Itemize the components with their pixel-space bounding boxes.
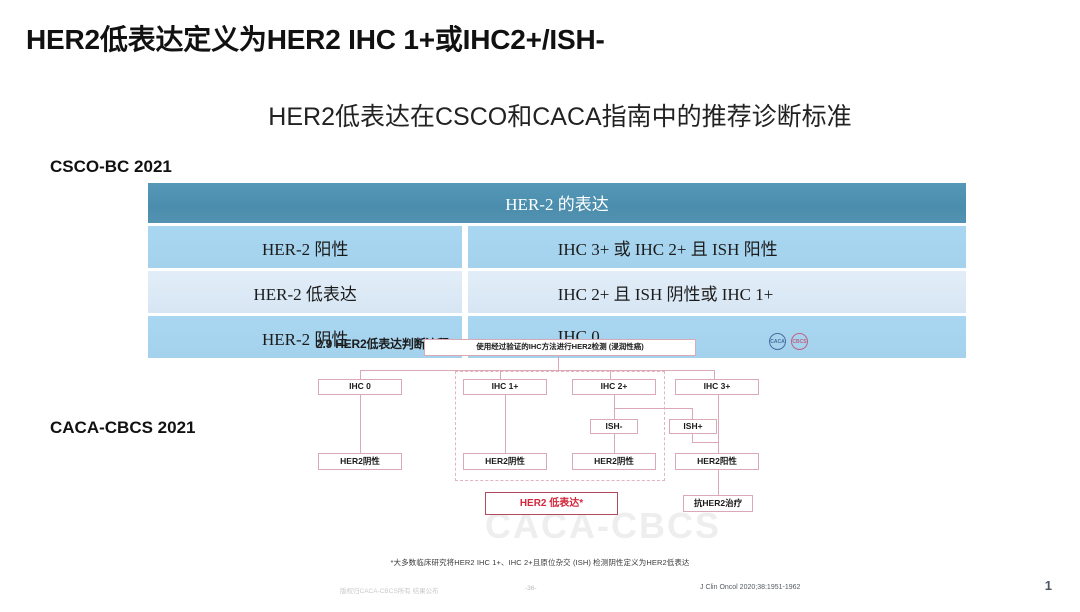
table-row: HER-2 阳性 IHC 3+ 或 IHC 2+ 且 ISH 阳性 xyxy=(148,226,966,268)
connector-ishpos-to-positive xyxy=(718,395,719,453)
flow-box-ish-positive: ISH+ xyxy=(669,419,717,434)
flow-box-ihc-3plus: IHC 3+ xyxy=(675,379,759,395)
footer-copyright: 版权归CACA-CBCS所有 结果公布 xyxy=(340,585,439,595)
connector-distributor xyxy=(360,370,714,371)
flow-box-her2-low-expression: HER2 低表达* xyxy=(485,492,618,515)
connector-ihc1-to-result xyxy=(505,395,506,453)
section-label-csco: CSCO-BC 2021 xyxy=(50,157,172,177)
connector-ishneg-to-result xyxy=(614,434,615,453)
connector-ish-split xyxy=(614,408,692,409)
connector-to-ihc0 xyxy=(360,370,361,379)
table-cell-criteria: IHC 3+ 或 IHC 2+ 且 ISH 阳性 xyxy=(468,226,966,268)
connector-positive-to-treatment xyxy=(718,470,719,495)
flow-box-result-her2-negative-0: HER2阴性 xyxy=(318,453,402,470)
flow-box-ihc-method: 使用经过验证的IHC方法进行HER2检测 (浸润性癌) xyxy=(424,339,696,356)
slide-page-number: 1 xyxy=(1045,578,1052,593)
flow-box-ish-negative: ISH- xyxy=(590,419,638,434)
flow-box-anti-her2-treatment: 抗HER2治疗 xyxy=(683,495,753,512)
table-cell-category: HER-2 阳性 xyxy=(148,226,462,268)
connector-to-ish-pos xyxy=(692,408,693,419)
table-cell-criteria: IHC 2+ 且 ISH 阴性或 IHC 1+ xyxy=(468,271,966,313)
flowchart-footnote: *大多数临床研究将HER2 IHC 1+、IHC 2+且原位杂交 (ISH) 检… xyxy=(0,557,1080,568)
flow-box-result-her2-negative-1: HER2阴性 xyxy=(463,453,547,470)
page-title: HER2低表达定义为HER2 IHC 1+或IHC2+/ISH- xyxy=(26,18,605,58)
footer-page-marker: -36- xyxy=(525,585,537,592)
connector-to-ihc1 xyxy=(500,370,501,379)
section-label-caca: CACA-CBCS 2021 xyxy=(50,418,195,438)
table-row: HER-2 低表达 IHC 2+ 且 ISH 阴性或 IHC 1+ xyxy=(148,271,966,313)
connector-ihc0-to-result xyxy=(360,395,361,453)
connector-to-ihc3 xyxy=(714,370,715,379)
her2-decision-flowchart: 2.9 HER2低表达判断流程 CACA CBCS CACA-CBCS 使用经过… xyxy=(300,330,820,580)
flow-box-ihc-0: IHC 0 xyxy=(318,379,402,395)
footer-reference: J Clin Oncol 2020;38:1951-1962 xyxy=(700,584,800,591)
connector-ihc2-stem xyxy=(614,395,615,408)
flow-box-ihc-1plus: IHC 1+ xyxy=(463,379,547,395)
flow-box-result-her2-positive: HER2阳性 xyxy=(675,453,759,470)
connector-top-stem xyxy=(558,356,559,370)
flowchart-logos: CACA CBCS xyxy=(769,333,808,350)
flow-box-ihc-2plus: IHC 2+ xyxy=(572,379,656,395)
connector-ishpos-right xyxy=(692,442,718,443)
table-header-row: HER-2 的表达 xyxy=(148,183,966,223)
caca-logo-icon: CACA xyxy=(769,333,786,350)
connector-ishpos-down xyxy=(692,434,693,442)
table-cell-category: HER-2 低表达 xyxy=(148,271,462,313)
flow-box-result-her2-negative-2: HER2阴性 xyxy=(572,453,656,470)
connector-to-ish-neg xyxy=(614,408,615,419)
page-subtitle: HER2低表达在CSCO和CACA指南中的推荐诊断标准 xyxy=(0,97,1080,133)
table-header-cell: HER-2 的表达 xyxy=(148,183,966,223)
cbcs-logo-icon: CBCS xyxy=(791,333,808,350)
connector-to-ihc2 xyxy=(610,370,611,379)
